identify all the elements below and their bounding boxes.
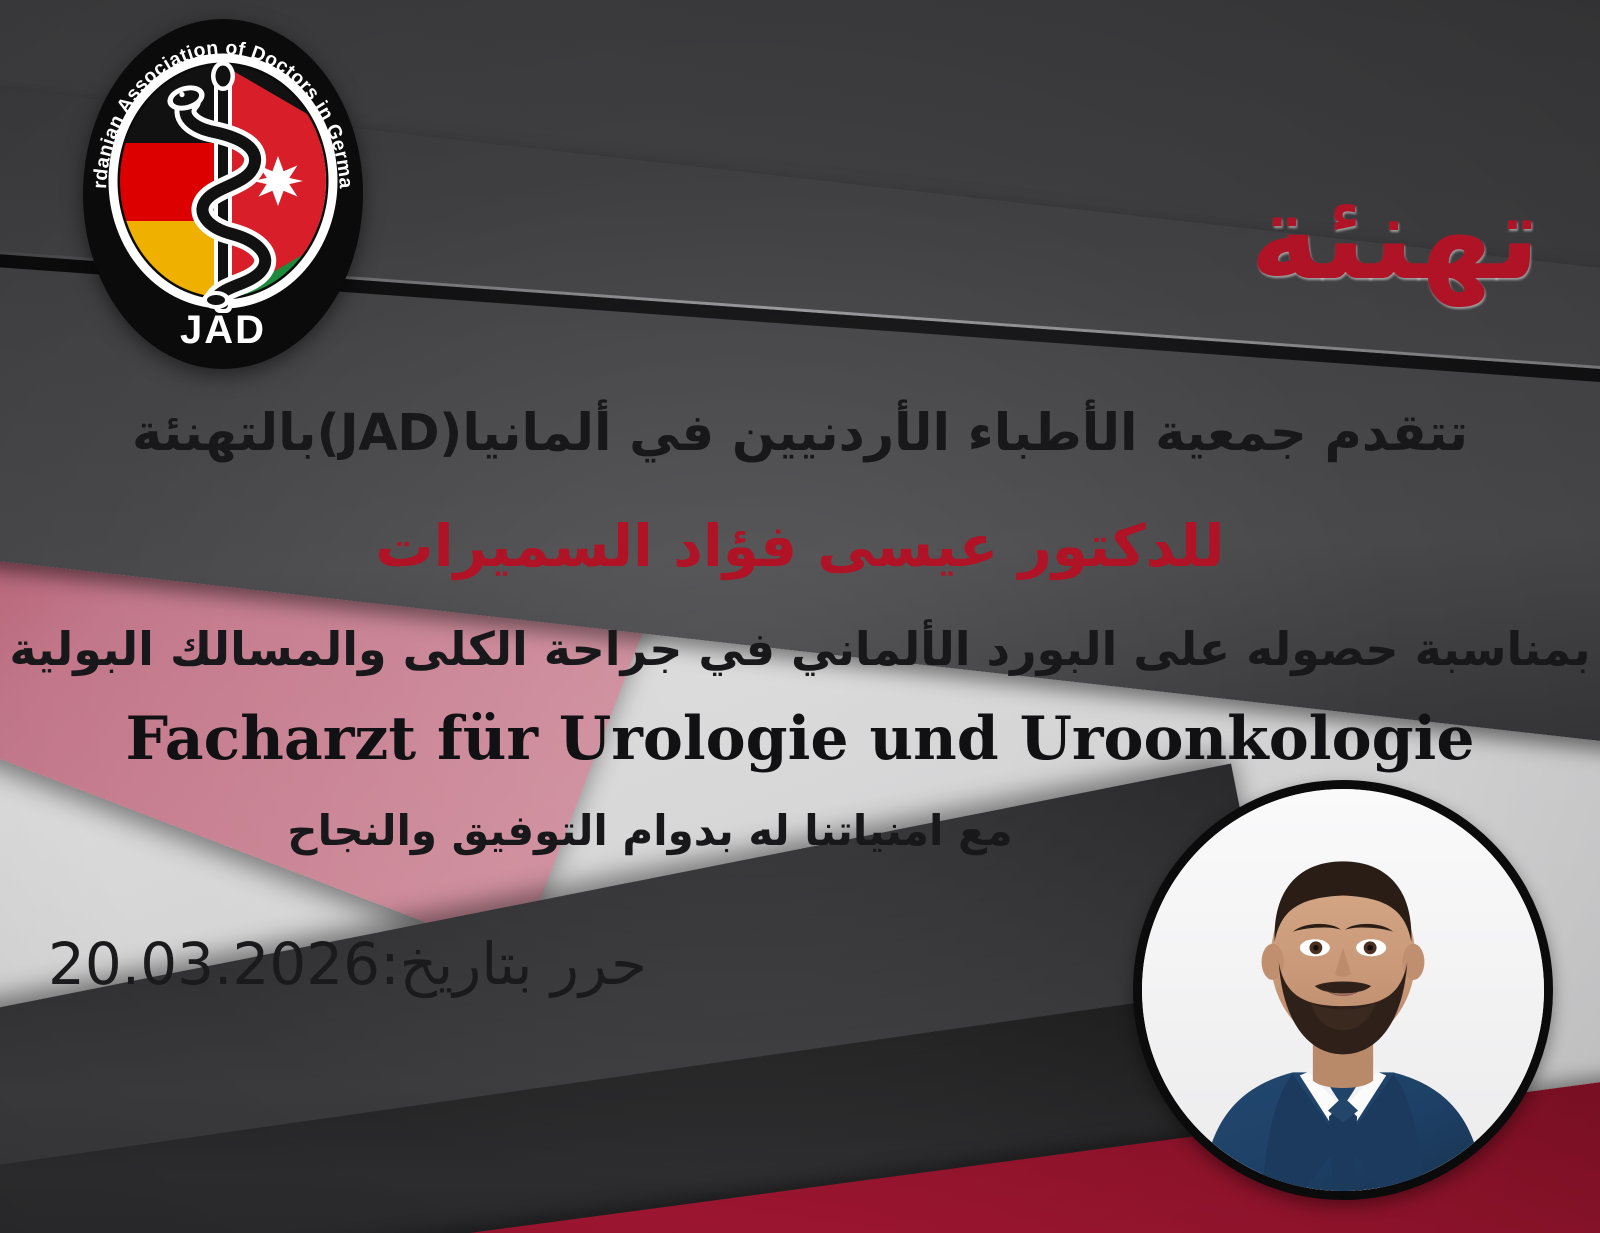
body-line-association: تتقدم جمعية الأطباء الأردنيين في ألمانيا… [0, 404, 1600, 463]
portrait-illustration [1142, 789, 1544, 1191]
body-line-german-title: Facharzt für Urologie und Uroonkologie [0, 704, 1600, 774]
issue-date: حرر بتاريخ:20.03.2026 [48, 930, 647, 998]
body-line-occasion: بمناسبة حصوله على البورد الألماني في جرا… [0, 622, 1600, 676]
body-line-honoree-name: للدكتور عيسى فؤاد السميرات [0, 512, 1600, 580]
jad-logo-icon: Jordanian Association of Doctors in Germ… [82, 18, 364, 370]
congratulation-card: Jordanian Association of Doctors in Germ… [0, 0, 1600, 1233]
doctor-portrait [1133, 780, 1553, 1200]
logo-acronym: JAD [180, 308, 266, 352]
page-title: تهنئة [1250, 178, 1540, 296]
